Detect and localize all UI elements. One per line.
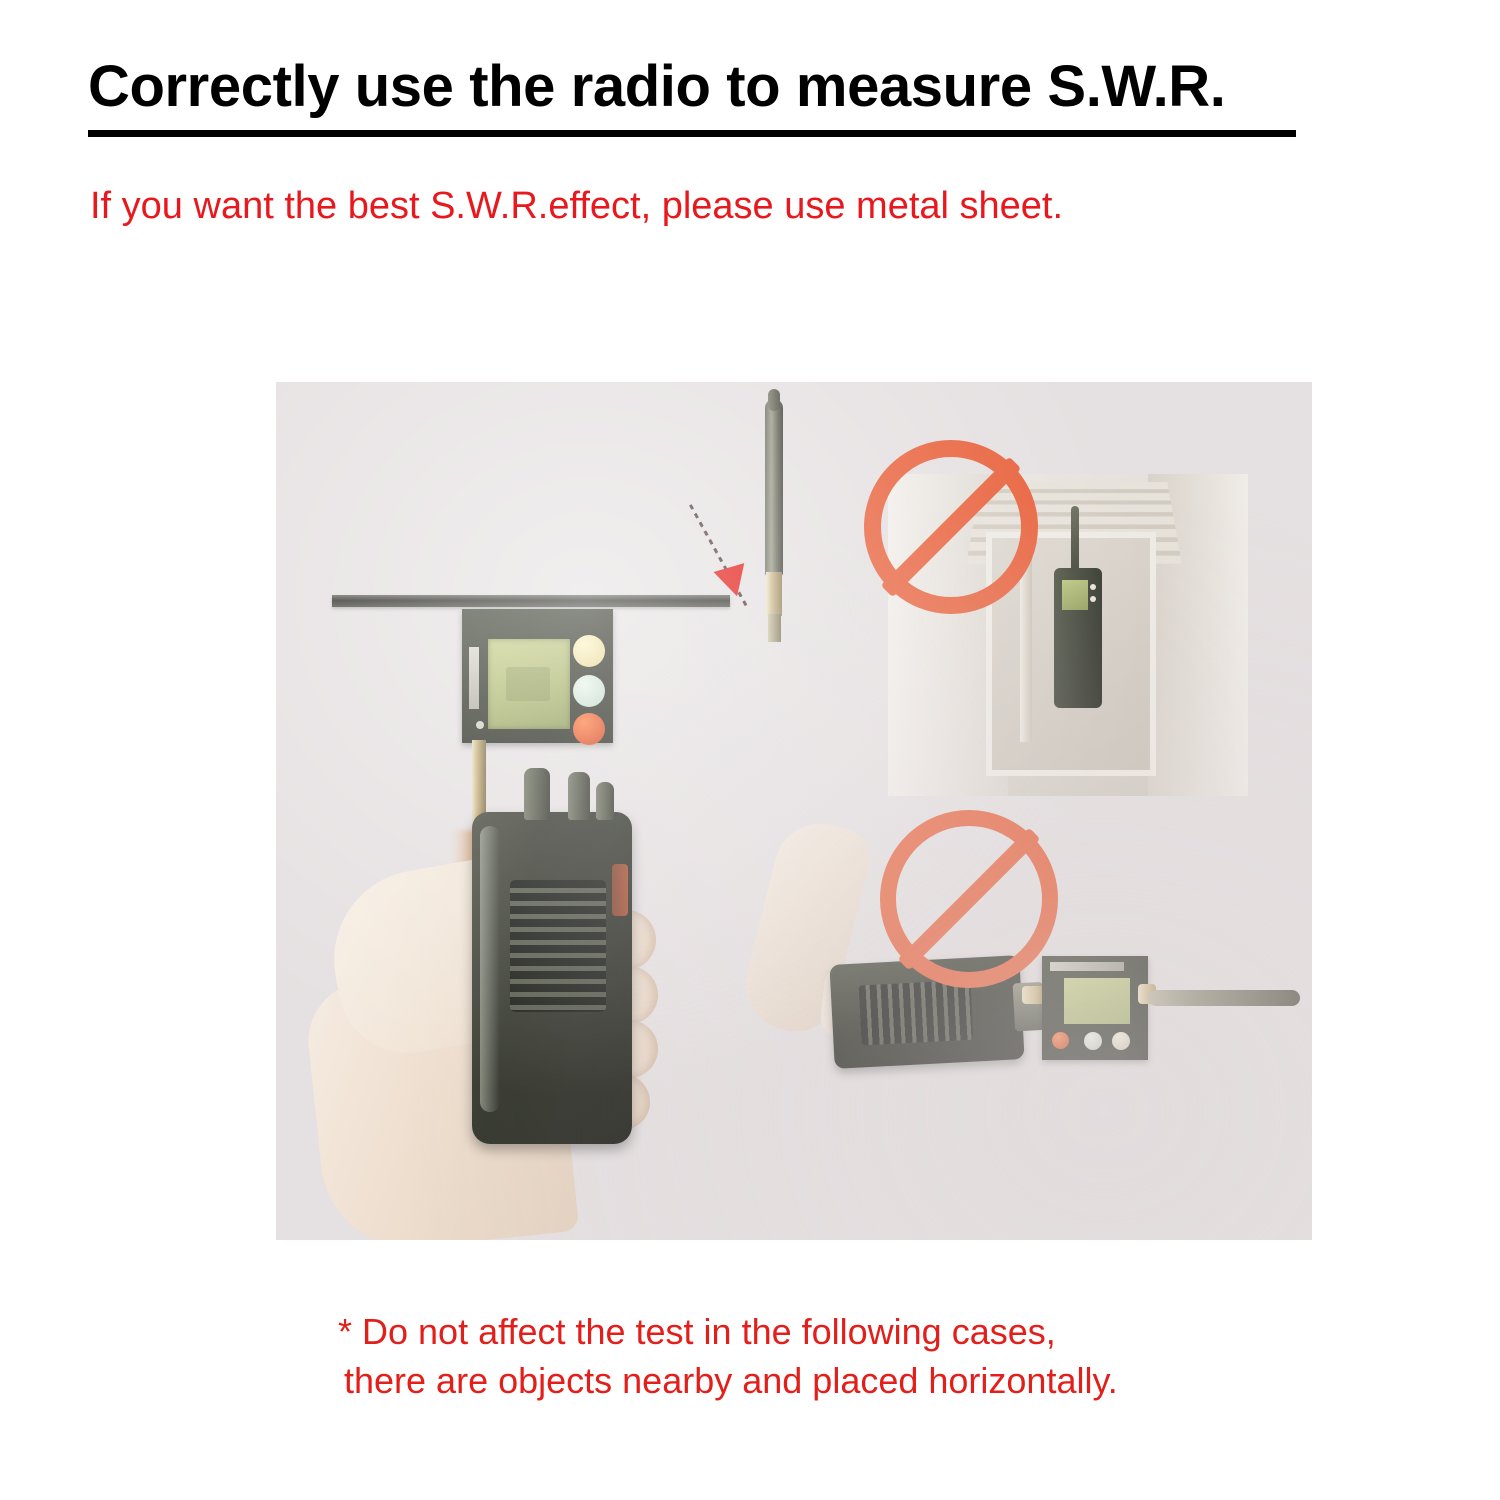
meter-yellow-button[interactable] (573, 635, 605, 667)
antenna-ferrule-lower (768, 614, 781, 642)
title-underline-rule (88, 130, 1296, 137)
figure-caption: * Do not affect the test in the followin… (338, 1308, 1338, 1405)
subtitle-text: If you want the best S.W.R.effect, pleas… (90, 186, 1290, 228)
meter-white-button[interactable] (573, 675, 605, 707)
meter-brand-label-horizontal (1050, 962, 1124, 971)
page-title: Correctly use the radio to measure S.W.R… (88, 58, 1318, 116)
corridor-radio-lcd (1062, 580, 1088, 610)
swr-meter (462, 609, 613, 743)
red-arrow-icon (713, 563, 752, 601)
corridor-radio-indicator-1 (1090, 584, 1096, 590)
metal-sheet-ground-plane (332, 595, 730, 607)
meter-yellow-button-horizontal[interactable] (1112, 1032, 1130, 1050)
swr-meter-horizontal (1042, 956, 1148, 1060)
antenna-horizontal (1148, 990, 1300, 1006)
caption-line-2: there are objects nearby and placed hori… (344, 1357, 1338, 1406)
meter-white-button-horizontal[interactable] (1084, 1032, 1102, 1050)
antenna-ferrule (766, 572, 782, 616)
radio-antenna-stub (596, 782, 614, 820)
radio-ptt-button[interactable] (612, 864, 628, 916)
meter-red-button[interactable] (573, 713, 605, 745)
handheld-radio (472, 812, 632, 1144)
radio-in-corridor (1054, 568, 1102, 708)
instructional-photo (276, 382, 1312, 1240)
radio-channel-knob[interactable] (568, 772, 590, 820)
corridor-door-frame (1020, 552, 1032, 742)
meter-led-indicator (476, 721, 484, 729)
meter-red-button-horizontal[interactable] (1052, 1032, 1069, 1049)
meter-lcd-display-horizontal (1064, 978, 1130, 1024)
radio-speaker-grille-horizontal (859, 980, 974, 1046)
radio-volume-knob[interactable] (524, 768, 550, 820)
meter-lcd-glyph (506, 667, 550, 701)
caption-line-1: * Do not affect the test in the followin… (338, 1311, 1056, 1352)
radio-speaker-grille (510, 880, 606, 1012)
meter-lcd-display (488, 639, 570, 729)
prohibition-slash (898, 828, 1041, 971)
corridor-radio-indicator-2 (1090, 596, 1096, 602)
rubber-duck-antenna (765, 399, 783, 577)
prohibition-sign-icon-top (864, 440, 1038, 614)
prohibition-sign-icon-bottom (880, 810, 1058, 988)
meter-brand-label (469, 647, 479, 709)
prohibition-slash (881, 457, 1022, 598)
